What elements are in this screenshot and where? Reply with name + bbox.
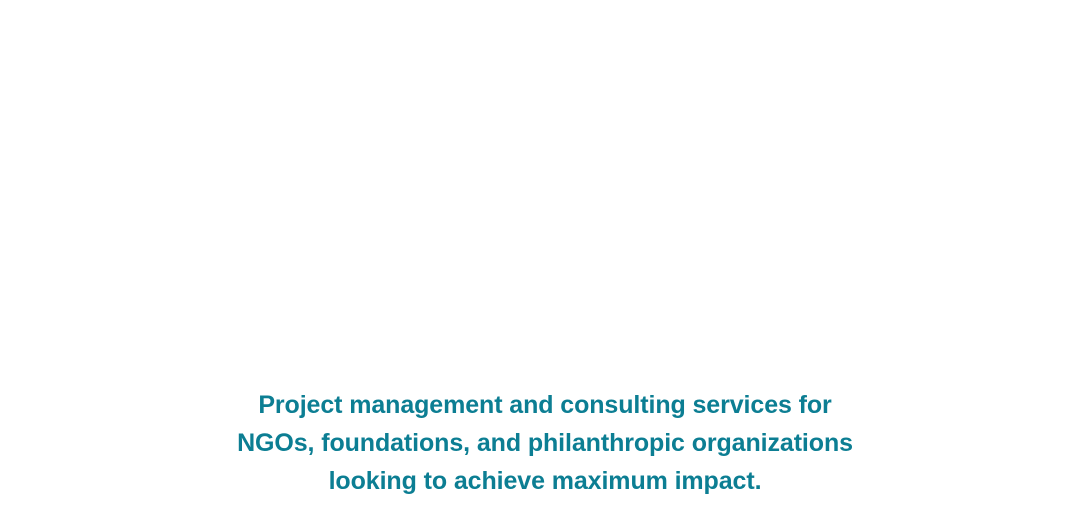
headline-block: WE FOCUS ON IMPACT bbox=[0, 0, 1090, 345]
subheadline-line-2: NGOs, foundations, and philanthropic org… bbox=[0, 424, 1090, 462]
subheadline-line-1: Project management and consulting servic… bbox=[0, 386, 1090, 424]
subheadline-block: Project management and consulting servic… bbox=[0, 386, 1090, 500]
headline-line-2-text: IMPACT bbox=[68, 118, 833, 370]
subheadline-line-3: looking to achieve maximum impact. bbox=[0, 462, 1090, 500]
hero-section: WE FOCUS ON IMPACT Project management an… bbox=[0, 0, 1090, 531]
headline-line-2: IMPACT bbox=[68, 118, 1024, 370]
